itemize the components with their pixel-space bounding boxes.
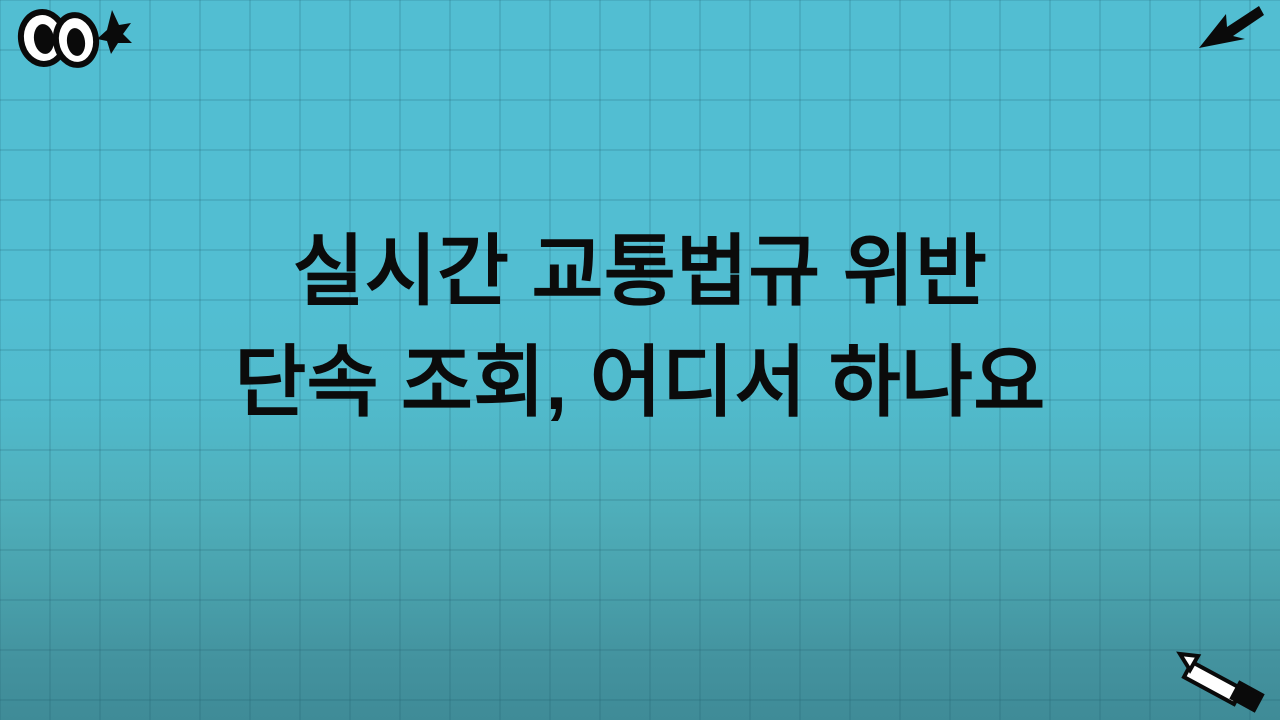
arrow-down-left-icon-svg — [1196, 4, 1264, 54]
eyes-icon — [12, 6, 132, 70]
googly-eyes-star-logo — [12, 6, 132, 70]
arrow-down-left-icon — [1196, 4, 1264, 54]
page-title: 실시간 교통법규 위반 단속 조회, 어디서 하나요 — [0, 216, 1280, 438]
pencil-icon — [1160, 642, 1278, 718]
pencil-icon-svg — [1160, 642, 1278, 718]
slide-canvas: 실시간 교통법규 위반 단속 조회, 어디서 하나요 — [0, 0, 1280, 720]
star-icon — [97, 10, 132, 54]
